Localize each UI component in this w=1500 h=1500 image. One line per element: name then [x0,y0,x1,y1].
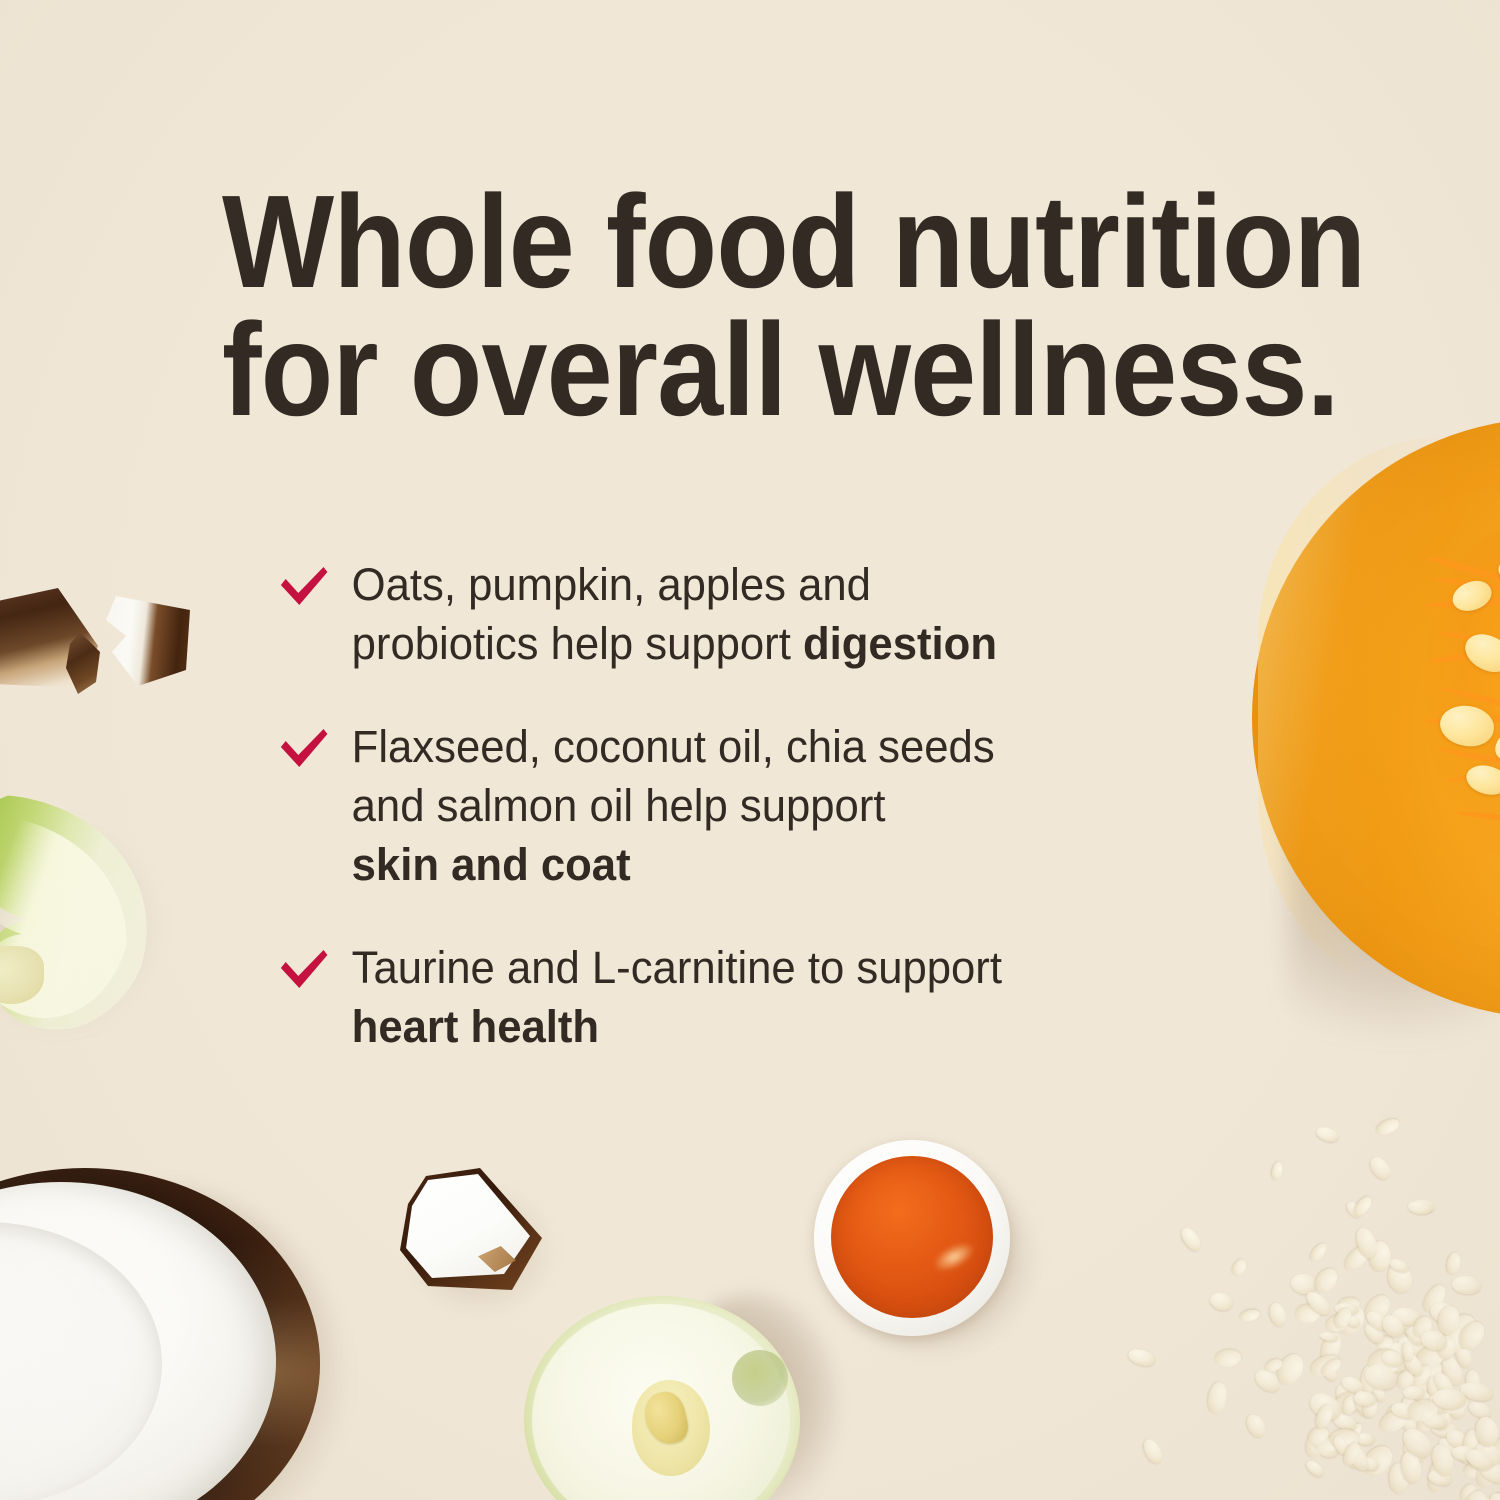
oat-flake [1446,1252,1463,1275]
benefit-line-1: Taurine and L-carnitine to support [352,939,1208,998]
coconut-chunk-white-shape [92,596,194,688]
check-icon [278,564,330,608]
oat-flake [1452,1275,1483,1296]
oat-flake [1178,1225,1204,1254]
apple-stem-well [732,1350,788,1406]
oat-flake [1230,1257,1249,1278]
green-apple-slice [0,790,164,1040]
pumpkin-seed [1437,702,1496,749]
oat-flake [1356,1433,1374,1446]
oat-flake [1270,1161,1284,1181]
check-icon [278,726,330,770]
benefit-list: Oats, pumpkin, apples and probiotics hel… [276,556,1236,1057]
benefit-emphasis: digestion [803,618,997,669]
headline-line-2: for overall wellness. [222,306,1185,434]
benefit-text: probiotics help support [352,618,803,669]
coconut-shard-shape [64,632,104,694]
pumpkin-half [1252,418,1500,1036]
oat-flake [1307,1241,1329,1264]
benefit-line-2: probiotics help support digestion [352,615,1208,674]
oat-flake [1374,1116,1401,1138]
benefit-emphasis: skin and coat [352,836,1208,895]
list-item: Flaxseed, coconut oil, chia seeds and sa… [276,718,1207,895]
oat-flake [1126,1346,1157,1369]
oat-flake [1367,1153,1394,1182]
oil-meniscus [827,1152,997,1322]
coconut-shard [64,632,104,694]
benefit-line-1: Oats, pumpkin, apples and [352,556,1208,615]
pumpkin-cut-edge [1258,436,1448,1002]
green-apple-half [524,1288,836,1500]
list-item: Taurine and L-carnitine to support heart… [276,939,1207,1057]
benefit-line-1: Flaxseed, coconut oil, chia seeds [352,718,1208,777]
oat-flake [1303,1458,1325,1480]
oat-flake [1267,1300,1288,1327]
check-icon [278,947,330,991]
page-title: Whole food nutrition for overall wellnes… [222,178,1185,434]
oat-flake [1207,1381,1230,1415]
oat-flake [1141,1436,1166,1466]
coconut-chunk-white [92,596,194,688]
oat-flake [1403,1385,1426,1398]
pumpkin-fiber [1458,810,1500,829]
list-item: Oats, pumpkin, apples and probiotics hel… [276,556,1207,674]
benefit-line-2: and salmon oil help support [352,777,1208,836]
rolled-oats-pile [1120,1114,1500,1500]
oat-flake [1243,1411,1268,1440]
benefit-emphasis: heart health [352,998,1208,1057]
coconut-half [0,1168,370,1500]
oat-flake [1239,1308,1261,1323]
product-feature-panel: Whole food nutrition for overall wellnes… [0,0,1500,1500]
oat-flake [1315,1125,1341,1145]
oat-flake [1208,1289,1235,1313]
pumpkin-seed [1463,761,1500,798]
headline-line-1: Whole food nutrition [222,178,1185,306]
salmon-oil-bowl [814,1140,1034,1354]
oat-flake [1214,1348,1242,1368]
